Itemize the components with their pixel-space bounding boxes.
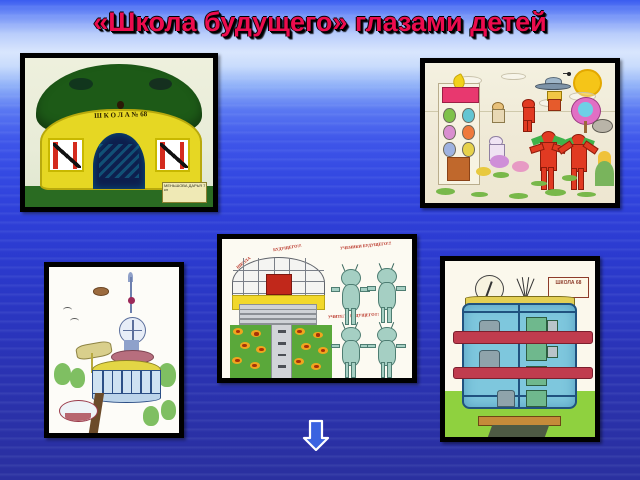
next-slide-arrow-button[interactable] (302, 419, 330, 451)
arrow-down-icon[interactable] (302, 419, 330, 451)
drawing-grey-creature (592, 119, 613, 133)
drawing-window-left (48, 138, 84, 172)
drawing-small-figure-b (488, 102, 513, 130)
drawing-sunflowers-left (230, 325, 272, 378)
drawing-alien-2 (372, 263, 401, 324)
drawing-small-figure-a (518, 99, 537, 130)
drawing-alien-1 (336, 264, 365, 325)
artwork-blue-building-canvas: ШКОЛА 68 (445, 261, 595, 437)
drawing-entrance-door (266, 274, 293, 295)
artwork-aliens-party-canvas (425, 63, 615, 203)
artwork-tower-school-canvas (49, 267, 179, 433)
artwork-future-school[interactable]: ШКОЛА БУДУЩЕГО!!! УЧЕНИКИ БУДУЩЕГО!!! УЧ… (217, 234, 417, 383)
drawing-school-number: Ш К О Л А № 68 (74, 110, 169, 134)
artwork-school-gate-canvas: Ш К О Л А № 68 МЕНЬШОВА ДАРЬЯ 7 кл (25, 58, 213, 207)
drawing-ufo (535, 77, 569, 90)
drawing-road (271, 325, 292, 378)
drawing-small-ufo (93, 287, 109, 296)
drawing-vending-panel (438, 83, 480, 186)
artwork-aliens-party[interactable] (420, 58, 620, 208)
drawing-small-figure-d (545, 91, 564, 115)
drawing-signature: МЕНЬШОВА ДАРЬЯ 7 кл (162, 182, 207, 202)
artwork-future-school-canvas: ШКОЛА БУДУЩЕГО!!! УЧЕНИКИ БУДУЩЕГО!!! УЧ… (222, 239, 412, 378)
drawing-fir-tree (594, 151, 615, 193)
artwork-school-gate[interactable]: Ш К О Л А № 68 МЕНЬШОВА ДАРЬЯ 7 кл (20, 53, 218, 212)
drawing-glass-body (462, 303, 577, 409)
drawing-alien-3 (336, 322, 365, 378)
drawing-alien-4 (372, 322, 401, 378)
artwork-tower-school[interactable] (44, 262, 184, 438)
artwork-blue-building[interactable]: ШКОЛА 68 (440, 256, 600, 442)
drawing-sunflowers-right (290, 325, 332, 378)
slide-canvas: «Школа будущего» глазами детей Ш К О Л А… (0, 0, 640, 480)
drawing-school-sign: ШКОЛА 68 (548, 277, 589, 298)
page-title: «Школа будущего» глазами детей (0, 7, 640, 38)
drawing-window-right (155, 138, 191, 172)
